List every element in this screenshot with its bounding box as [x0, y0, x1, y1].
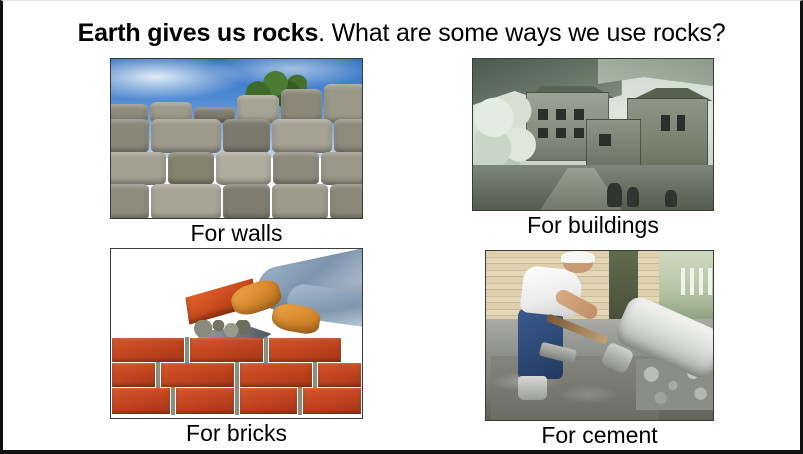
stone-block — [330, 184, 363, 219]
brick — [240, 388, 298, 414]
brick — [161, 363, 233, 387]
window — [556, 128, 566, 139]
window — [677, 115, 686, 131]
brick — [176, 388, 234, 414]
stone-block — [110, 119, 149, 153]
item-buildings: For buildings — [472, 58, 714, 239]
item-walls: For walls — [110, 58, 363, 247]
item-cement: For cement — [485, 250, 714, 449]
window — [538, 128, 548, 139]
brick — [190, 338, 262, 362]
mortar-joint — [298, 387, 302, 415]
stone-block — [223, 184, 270, 219]
worker-cap — [561, 251, 595, 263]
slide-canvas: Earth gives us rocks. What are some ways… — [0, 0, 803, 454]
mortar-joint — [313, 362, 317, 388]
caption-walls: For walls — [110, 220, 363, 247]
brick — [318, 363, 361, 387]
mortar-joint — [171, 387, 175, 415]
brick-wall — [111, 337, 362, 418]
caption-bricks: For bricks — [110, 420, 363, 447]
caption-cement: For cement — [485, 422, 714, 449]
mortar-joint — [264, 337, 268, 363]
picket-fence — [681, 268, 713, 295]
image-concrete-pour — [485, 250, 714, 421]
building-center — [586, 119, 641, 166]
window — [661, 115, 670, 131]
window — [574, 128, 584, 139]
brick — [112, 388, 170, 414]
window — [599, 134, 611, 146]
brick — [303, 388, 361, 414]
brick — [240, 363, 312, 387]
page-title: Earth gives us rocks. What are some ways… — [3, 18, 800, 48]
brick-course — [111, 362, 362, 388]
image-bricklaying — [110, 248, 363, 419]
stone-block — [273, 152, 319, 186]
brick — [112, 363, 155, 387]
brick-course — [111, 387, 362, 415]
stone-block — [151, 184, 221, 219]
stone-block — [216, 152, 271, 186]
window — [538, 109, 548, 120]
brick-course — [111, 337, 342, 363]
stone-block — [272, 184, 328, 219]
mortar-joint — [235, 387, 239, 415]
window — [574, 109, 584, 120]
wall-courses — [111, 119, 362, 218]
brick — [112, 338, 184, 362]
worker-boot — [518, 376, 548, 400]
brick — [269, 338, 341, 362]
item-bricks: For bricks — [110, 248, 363, 447]
person-figure — [627, 187, 639, 207]
stone-block — [272, 119, 333, 153]
mortar-pile — [191, 320, 251, 337]
mortar-joint — [185, 337, 189, 363]
wall-course — [110, 119, 363, 153]
stone-block — [281, 89, 323, 123]
stone-block — [151, 119, 221, 153]
page-title-bold: Earth gives us rocks — [78, 19, 319, 47]
wall-course — [110, 152, 363, 186]
person-figure — [665, 190, 677, 207]
stone-block — [223, 119, 270, 153]
stone-block — [110, 184, 149, 219]
stone-block — [324, 84, 363, 122]
stone-block — [168, 152, 214, 186]
stone-block — [334, 119, 363, 153]
window — [556, 109, 566, 120]
image-stone-wall — [110, 58, 363, 219]
mortar-joint — [235, 362, 239, 388]
person-figure — [607, 183, 621, 207]
mortar-joint — [156, 362, 160, 388]
wall-capstones — [110, 88, 363, 123]
image-stone-buildings — [472, 58, 714, 211]
wall-course — [110, 184, 363, 219]
caption-buildings: For buildings — [472, 212, 714, 239]
stone-block — [110, 152, 166, 186]
stone-block — [321, 152, 363, 186]
page-title-rest: . What are some ways we use rocks? — [318, 19, 725, 47]
wet-concrete — [491, 356, 659, 420]
